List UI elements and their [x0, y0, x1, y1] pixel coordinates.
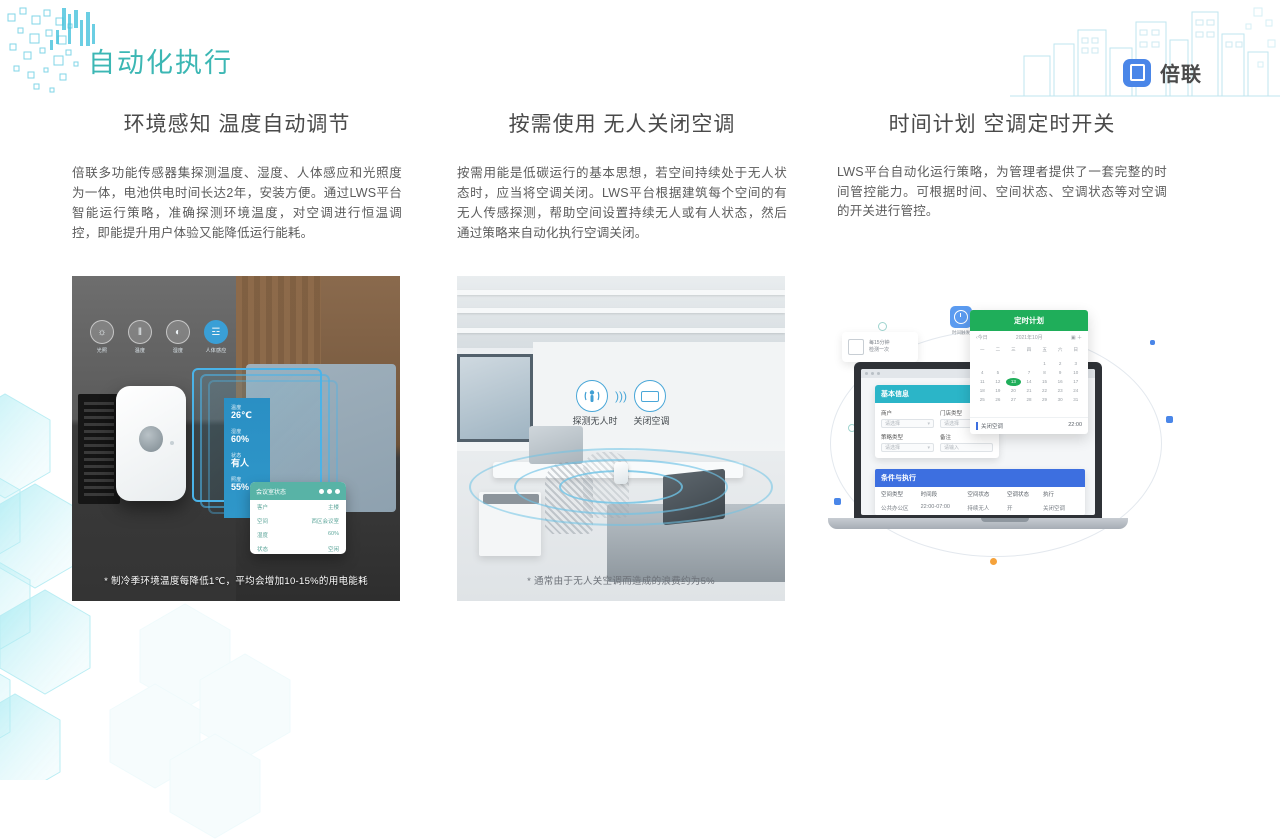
- calendar-day[interactable]: 11: [975, 378, 990, 386]
- calendar-day-grid[interactable]: 1234567891011121314151617181920212223242…: [970, 358, 1088, 417]
- capability-humidity: ◐ 湿度: [166, 320, 190, 354]
- column-header: 时间段: [921, 490, 968, 498]
- calendar-day[interactable]: 19: [991, 387, 1006, 395]
- calendar-day[interactable]: 30: [1053, 396, 1068, 404]
- merchant-select[interactable]: 请选择 ▾: [881, 419, 934, 428]
- laptop-notch: [981, 518, 1029, 522]
- column-body-text: 倍联多功能传感器集探测温度、湿度、人体感应和光照度为一体，电池供电时间长达2年，…: [72, 163, 402, 243]
- status-card-dots-icon: [319, 489, 340, 494]
- readout-value: 26℃: [231, 411, 263, 421]
- calendar-actions-icon[interactable]: ▣ ＋: [1071, 334, 1082, 341]
- illustration-schedule-platform: 每15分钟 检测一次 时间触发 基本信息 商户 请选择 ▾: [820, 300, 1190, 580]
- calendar-day[interactable]: 6: [1006, 369, 1021, 377]
- calendar-day[interactable]: 8: [1037, 369, 1052, 377]
- capability-label: 人体感应: [206, 347, 227, 354]
- remark-input[interactable]: 请输入: [940, 443, 993, 452]
- status-key: 空间: [257, 517, 268, 525]
- droplet-icon: ◐: [166, 320, 190, 344]
- readout-row: 湿度 60%: [231, 428, 263, 445]
- calendar-day[interactable]: 31: [1068, 396, 1083, 404]
- office-window: [457, 354, 533, 442]
- badge-label-detect: 探测无人时: [572, 414, 617, 427]
- calendar-day[interactable]: 28: [1022, 396, 1037, 404]
- column-heading: 环境感知 温度自动调节: [72, 112, 402, 137]
- calendar-day[interactable]: 24: [1068, 387, 1083, 395]
- cell-action: 关闭空调: [1043, 504, 1079, 512]
- column-time-schedule: 时间计划 空调定时开关 LWS平台自动化运行策略，为管理者提供了一套完整的时间管…: [837, 112, 1167, 222]
- photo-open-office: ))) 探测无人时 关闭空调 * 通常由于无人关空调而造成的浪费约为5%: [457, 276, 785, 601]
- sun-icon: ☼: [90, 320, 114, 344]
- status-card-header: 会议室状态: [250, 482, 346, 500]
- chip-line-2: 检测一次: [869, 347, 889, 353]
- capability-temperature: ‖ 温度: [128, 320, 152, 354]
- calendar-weekday: 三: [1006, 346, 1021, 354]
- ceiling-beam: [457, 290, 785, 295]
- clock-label: 时间触发: [952, 330, 970, 336]
- form-field-policy-type: 策略类型 请选择 ▾: [881, 433, 934, 452]
- calendar-day: [991, 360, 1006, 368]
- cell-space-type: 公共办公区: [881, 504, 921, 512]
- form-field-merchant: 商户 请选择 ▾: [881, 409, 934, 428]
- ceiling-occupancy-sensor: [614, 462, 628, 484]
- column-header: 空间类型: [881, 490, 921, 498]
- person-motion-icon: ☲: [204, 320, 228, 344]
- table-row: 公共办公区 22:00-07:00 持续无人 开 关闭空调: [875, 501, 1085, 515]
- calendar-day[interactable]: 17: [1068, 378, 1083, 386]
- status-key: 客户: [257, 503, 268, 511]
- readout-row: 温度 26℃: [231, 404, 263, 421]
- table-header-row: 空间类型 时间段 空间状态 空调状态 执行: [875, 487, 1085, 501]
- capability-label: 光照: [97, 347, 107, 354]
- calendar-day[interactable]: 25: [975, 396, 990, 404]
- calendar-day[interactable]: 29: [1037, 396, 1052, 404]
- chip-line-1: 每15分钟: [869, 340, 890, 346]
- chip-text: 每15分钟 检测一次: [869, 340, 890, 354]
- column-header: 空间状态: [967, 490, 1007, 498]
- status-card-row: 状态 空闲: [250, 542, 346, 554]
- calendar-day[interactable]: 1: [1037, 360, 1052, 368]
- status-value: 空闲: [328, 545, 339, 553]
- calendar-month: 2021年10月: [1016, 334, 1043, 341]
- decor-dot: [1166, 416, 1173, 423]
- air-vent: [78, 394, 120, 504]
- status-value: 西区会议室: [311, 517, 339, 525]
- calendar-day: [975, 405, 990, 413]
- calendar-day[interactable]: 22: [1037, 387, 1052, 395]
- status-card-title: 会议室状态: [256, 487, 286, 496]
- calendar-day[interactable]: 21: [1022, 387, 1037, 395]
- calendar-day: [975, 360, 990, 368]
- readout-value: 60%: [231, 435, 263, 445]
- calendar-day[interactable]: 2: [1053, 360, 1068, 368]
- calendar-day[interactable]: 4: [975, 369, 990, 377]
- field-placeholder: 请选择: [944, 420, 959, 427]
- capability-label: 湿度: [173, 347, 183, 354]
- column-header: 空调状态: [1007, 490, 1043, 498]
- badge-label-turn-off: 关闭空调: [634, 414, 670, 427]
- capability-occupancy: ☲ 人体感应: [204, 320, 228, 354]
- detection-badge-labels: 探测无人时 关闭空调: [572, 414, 669, 427]
- photo-sensor-on-wall: ☼ 光照 ‖ 温度 ◐ 湿度 ☲ 人体感应 温度: [72, 276, 400, 601]
- column-header: 执行: [1043, 490, 1079, 498]
- event-time: 22:00: [1068, 422, 1082, 430]
- readout-key: 温度: [231, 404, 263, 411]
- calendar-day[interactable]: 5: [991, 369, 1006, 377]
- calendar-weekday: 四: [1022, 346, 1037, 354]
- calendar-weekday: 一: [975, 346, 990, 354]
- calendar-day[interactable]: 7: [1022, 369, 1037, 377]
- calendar-day[interactable]: 27: [1006, 396, 1021, 404]
- field-placeholder: 请选择: [885, 444, 900, 451]
- column-on-demand-usage: 按需使用 无人关闭空调 按需用能是低碳运行的基本思想，若空间持续处于无人状态时，…: [457, 112, 787, 243]
- capability-illuminance: ☼ 光照: [90, 320, 114, 354]
- pir-lens-icon: [139, 426, 163, 452]
- column-body-text: LWS平台自动化运行策略，为管理者提供了一套完整的时间管控能力。可根据时间、空间…: [837, 163, 1167, 222]
- column-heading: 时间计划 空调定时开关: [837, 112, 1167, 137]
- table-title: 条件与执行: [875, 469, 1085, 487]
- decor-dot: [878, 322, 887, 331]
- signal-icon: ))): [615, 390, 627, 402]
- readout-key: 湿度: [231, 428, 263, 435]
- status-card-row: 湿度 60%: [250, 528, 346, 542]
- decor-dot: [990, 558, 997, 565]
- content-columns: 环境感知 温度自动调节 倍联多功能传感器集探测温度、湿度、人体感应和光照度为一体…: [0, 0, 1280, 720]
- clock-icon: [950, 306, 972, 328]
- status-key: 湿度: [257, 531, 268, 539]
- field-label: 策略类型: [881, 433, 934, 441]
- calendar-prev[interactable]: ‹今日: [976, 334, 988, 341]
- policy-type-select[interactable]: 请选择 ▾: [881, 443, 934, 452]
- event-label: 关闭空调: [976, 422, 1003, 430]
- occupancy-sensor-icon: [576, 380, 608, 412]
- photo-caption: * 制冷季环境温度每降低1℃，平均会增加10-15%的用电能耗: [72, 573, 400, 587]
- calendar-day[interactable]: 3: [1068, 360, 1083, 368]
- decor-dot: [834, 498, 841, 505]
- calendar-day[interactable]: 16: [1053, 378, 1068, 386]
- field-placeholder: 请输入: [944, 444, 959, 451]
- sensor-capability-icons: ☼ 光照 ‖ 温度 ◐ 湿度 ☲ 人体感应: [90, 320, 228, 354]
- chevron-down-icon: ▾: [927, 445, 930, 451]
- calendar-nav[interactable]: ‹今日 2021年10月 ▣ ＋: [970, 331, 1088, 344]
- photo-caption: * 通常由于无人关空调而造成的浪费约为5%: [457, 573, 785, 587]
- cell-time-range: 22:00-07:00: [921, 504, 968, 512]
- calendar-title: 定时计划: [970, 310, 1088, 331]
- readout-value: 有人: [231, 459, 263, 469]
- status-value: 60%: [328, 531, 339, 539]
- capability-label: 温度: [135, 347, 145, 354]
- cell-space-status: 持续无人: [967, 504, 1007, 512]
- conditions-and-actions-table: 条件与执行 空间类型 时间段 空间状态 空调状态 执行 公共办公区 22:00-…: [875, 469, 1085, 515]
- calendar-day[interactable]: 15: [1037, 378, 1052, 386]
- calendar-weekday-row: 一二三四五六日: [970, 344, 1088, 358]
- schedule-calendar-card: 定时计划 ‹今日 2021年10月 ▣ ＋ 一二三四五六日 1234567891…: [970, 310, 1088, 434]
- calendar-day[interactable]: 9: [1053, 369, 1068, 377]
- ceiling: [457, 276, 785, 348]
- calendar-weekday: 六: [1053, 346, 1068, 354]
- calendar-day[interactable]: 26: [991, 396, 1006, 404]
- cell-ac-status: 开: [1007, 504, 1043, 512]
- calendar-day[interactable]: 20: [1006, 387, 1021, 395]
- calendar-day[interactable]: 10: [1068, 369, 1083, 377]
- decor-dot: [1150, 340, 1155, 345]
- calendar-day[interactable]: 13: [1006, 378, 1021, 386]
- ceiling-beam: [457, 328, 785, 333]
- air-conditioner-icon: [634, 380, 666, 412]
- calendar-day: [1022, 360, 1037, 368]
- status-card-row: 客户 主楼: [250, 500, 346, 514]
- calendar-day: [1006, 405, 1021, 413]
- led-indicator-icon: [170, 441, 174, 445]
- readout-row: 状态 有人: [231, 452, 263, 469]
- laptop-base: [828, 518, 1128, 529]
- thermometer-icon: ‖: [128, 320, 152, 344]
- ceiling-beam: [457, 308, 785, 313]
- chevron-down-icon: ▾: [927, 421, 930, 427]
- calendar-weekday: 日: [1068, 346, 1083, 354]
- calendar-day[interactable]: 12: [991, 378, 1006, 386]
- calendar-day[interactable]: 14: [1022, 378, 1037, 386]
- field-placeholder: 请选择: [885, 420, 900, 427]
- document-scan-icon: [848, 339, 864, 355]
- status-card-row: 空间 西区会议室: [250, 514, 346, 528]
- form-field-remark: 备注 请输入: [940, 433, 993, 452]
- calendar-day: [991, 405, 1006, 413]
- status-value: 主楼: [328, 503, 339, 511]
- readout-key: 状态: [231, 452, 263, 459]
- field-label: 商户: [881, 409, 934, 417]
- calendar-day: [1006, 360, 1021, 368]
- calendar-day[interactable]: 23: [1053, 387, 1068, 395]
- detection-interval-chip: 每15分钟 检测一次: [842, 332, 918, 362]
- calendar-weekday: 二: [991, 346, 1006, 354]
- status-key: 状态: [257, 545, 268, 553]
- calendar-weekday: 五: [1037, 346, 1052, 354]
- meeting-room-status-card: 会议室状态 客户 主楼 空间 西区会议室 湿度 60% 状态 空闲: [250, 482, 346, 554]
- multifunction-sensor-device: [116, 386, 186, 501]
- detection-badges: ))): [576, 380, 666, 412]
- column-environment-sensing: 环境感知 温度自动调节 倍联多功能传感器集探测温度、湿度、人体感应和光照度为一体…: [72, 112, 402, 243]
- calendar-event-row: 关闭空调 22:00: [970, 417, 1088, 434]
- column-body-text: 按需用能是低碳运行的基本思想，若空间持续处于无人状态时，应当将空调关闭。LWS平…: [457, 163, 787, 243]
- calendar-day[interactable]: 18: [975, 387, 990, 395]
- field-label: 备注: [940, 433, 993, 441]
- column-heading: 按需使用 无人关闭空调: [457, 112, 787, 137]
